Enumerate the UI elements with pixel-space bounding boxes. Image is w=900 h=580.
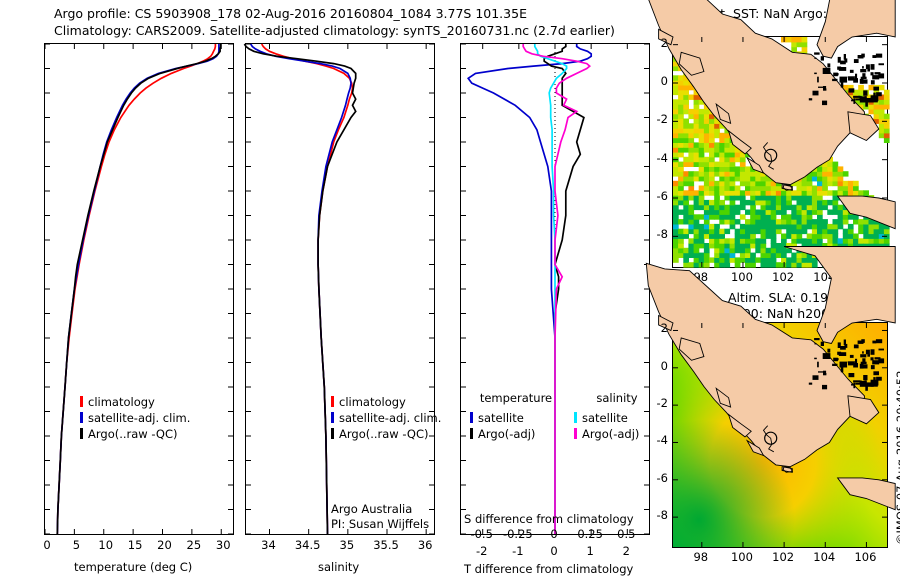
salinity-panel (245, 43, 435, 535)
legend-color-swatch (331, 428, 334, 439)
difference-panel (460, 43, 650, 535)
salinity-axis-label: salinity (318, 560, 359, 574)
temperature-tick-label: 25 (184, 538, 204, 552)
sla-lon-tick-label: 104 (811, 550, 837, 564)
legend-color-swatch (80, 396, 83, 407)
page-title-line1: Argo profile: CS 5903908_178 02-Aug-2016… (54, 6, 527, 21)
sla-map (672, 322, 888, 548)
sla-lon-tick-label: 98 (688, 550, 714, 564)
salinity-plot (246, 44, 434, 534)
temperature-legend-item: climatology (80, 391, 190, 407)
legend-color-swatch (80, 412, 83, 423)
temperature-legend: climatologysatellite-adj. clim.Argo(..ra… (80, 391, 190, 439)
difference-s-tick-label: 0 (537, 527, 571, 541)
legend-color-swatch (331, 396, 334, 407)
legend-color-swatch (470, 412, 473, 423)
temperature-legend-item: satellite-adj. clim. (80, 407, 190, 423)
temperature-tick-label: 15 (125, 538, 145, 552)
temperature-tick-label: 0 (37, 538, 57, 552)
temperature-panel (44, 43, 234, 535)
salinity-tick-label: 35.5 (371, 538, 401, 552)
legend-color-swatch (574, 428, 577, 439)
sla-lat-tick-label: -6 (646, 471, 668, 485)
salinity-ticks (246, 44, 434, 534)
legend-label: Argo(-adj) (478, 427, 535, 441)
legend-color-swatch (574, 412, 577, 423)
credit-text: ©IMOS 07-Aug-2016 20:40:52 (894, 370, 900, 545)
difference-t-tick-label: 0 (542, 544, 566, 558)
difference-legend-header: temperature (470, 391, 556, 407)
temperature-plot (45, 44, 233, 534)
difference-t-tick-label: -1 (506, 544, 530, 558)
difference-legend-item: Argo(-adj) (470, 423, 556, 439)
sla-map-canvas (673, 323, 887, 547)
page-title-line2: Climatology: CARS2009. Satellite-adjuste… (54, 23, 615, 38)
difference-axis-label-bottom: T difference from climatology (464, 562, 633, 576)
legend-color-swatch (470, 428, 473, 439)
temperature-ticks (45, 44, 233, 534)
sst-map (672, 36, 888, 268)
temperature-axis-label: temperature (deg C) (74, 560, 192, 574)
difference-legend-column: temperaturesatelliteArgo(-adj) (470, 391, 556, 439)
legend-color-swatch (331, 412, 334, 423)
sst-lat-tick-label: -6 (646, 189, 668, 203)
difference-s-tick-label: 0.5 (609, 527, 643, 541)
legend-label: Argo(..raw -QC) (339, 427, 429, 441)
sst-lat-tick-label: 2 (646, 36, 668, 50)
difference-t-tick-label: 2 (614, 544, 638, 558)
sst-lat-tick-label: 0 (646, 74, 668, 88)
sla-lon-tick-label: 100 (729, 550, 755, 564)
salinity-footer-line1: Argo Australia (331, 502, 412, 516)
sst-lon-tick-label: 100 (729, 270, 755, 284)
salinity-tick-label: 35 (332, 538, 362, 552)
temperature-tick-label: 10 (96, 538, 116, 552)
sst-lat-tick-label: -4 (646, 151, 668, 165)
difference-t-tick-label: -2 (470, 544, 494, 558)
difference-legend: temperaturesatelliteArgo(-adj)salinitysa… (470, 391, 660, 439)
temperature-tick-label: 30 (213, 538, 233, 552)
difference-s-tick-label: 0.25 (573, 527, 607, 541)
legend-color-swatch (80, 428, 83, 439)
sla-map-title-line1: Altim. SLA: 0.19 (728, 290, 828, 305)
sst-lon-tick-label: 102 (770, 270, 796, 284)
difference-s-tick-label: -0.5 (465, 527, 499, 541)
sst-map-canvas (673, 37, 887, 267)
temperature-tick-label: 20 (155, 538, 175, 552)
salinity-legend-item: satellite-adj. clim. (331, 407, 441, 423)
sla-lat-tick-label: 2 (646, 321, 668, 335)
difference-s-tick-label: -0.25 (501, 527, 535, 541)
legend-label: Argo(..raw -QC) (88, 427, 178, 441)
difference-t-tick-label: 1 (578, 544, 602, 558)
salinity-legend-item: Argo(..raw -QC) (331, 423, 441, 439)
salinity-legend: climatologysatellite-adj. clim.Argo(..ra… (331, 391, 441, 439)
difference-plot (461, 44, 649, 534)
salinity-legend-item: climatology (331, 391, 441, 407)
salinity-tick-label: 34 (254, 538, 284, 552)
sla-lat-tick-label: -2 (646, 396, 668, 410)
sla-lat-tick-label: -4 (646, 433, 668, 447)
sla-lat-tick-label: -8 (646, 508, 668, 522)
sst-lat-tick-label: -8 (646, 227, 668, 241)
temperature-tick-label: 5 (66, 538, 86, 552)
sla-lon-tick-label: 102 (770, 550, 796, 564)
salinity-tick-label: 34.5 (293, 538, 323, 552)
sst-lat-tick-label: -2 (646, 112, 668, 126)
temperature-legend-item: Argo(..raw -QC) (80, 423, 190, 439)
sla-lat-tick-label: 0 (646, 359, 668, 373)
legend-label: Argo(-adj) (582, 427, 639, 441)
difference-legend-item: satellite (470, 407, 556, 423)
sla-lon-tick-label: 106 (852, 550, 878, 564)
salinity-footer-line2: PI: Susan Wijffels (331, 517, 429, 531)
difference-axis-label-top: S difference from climatology (464, 512, 634, 526)
salinity-tick-label: 36 (410, 538, 440, 552)
